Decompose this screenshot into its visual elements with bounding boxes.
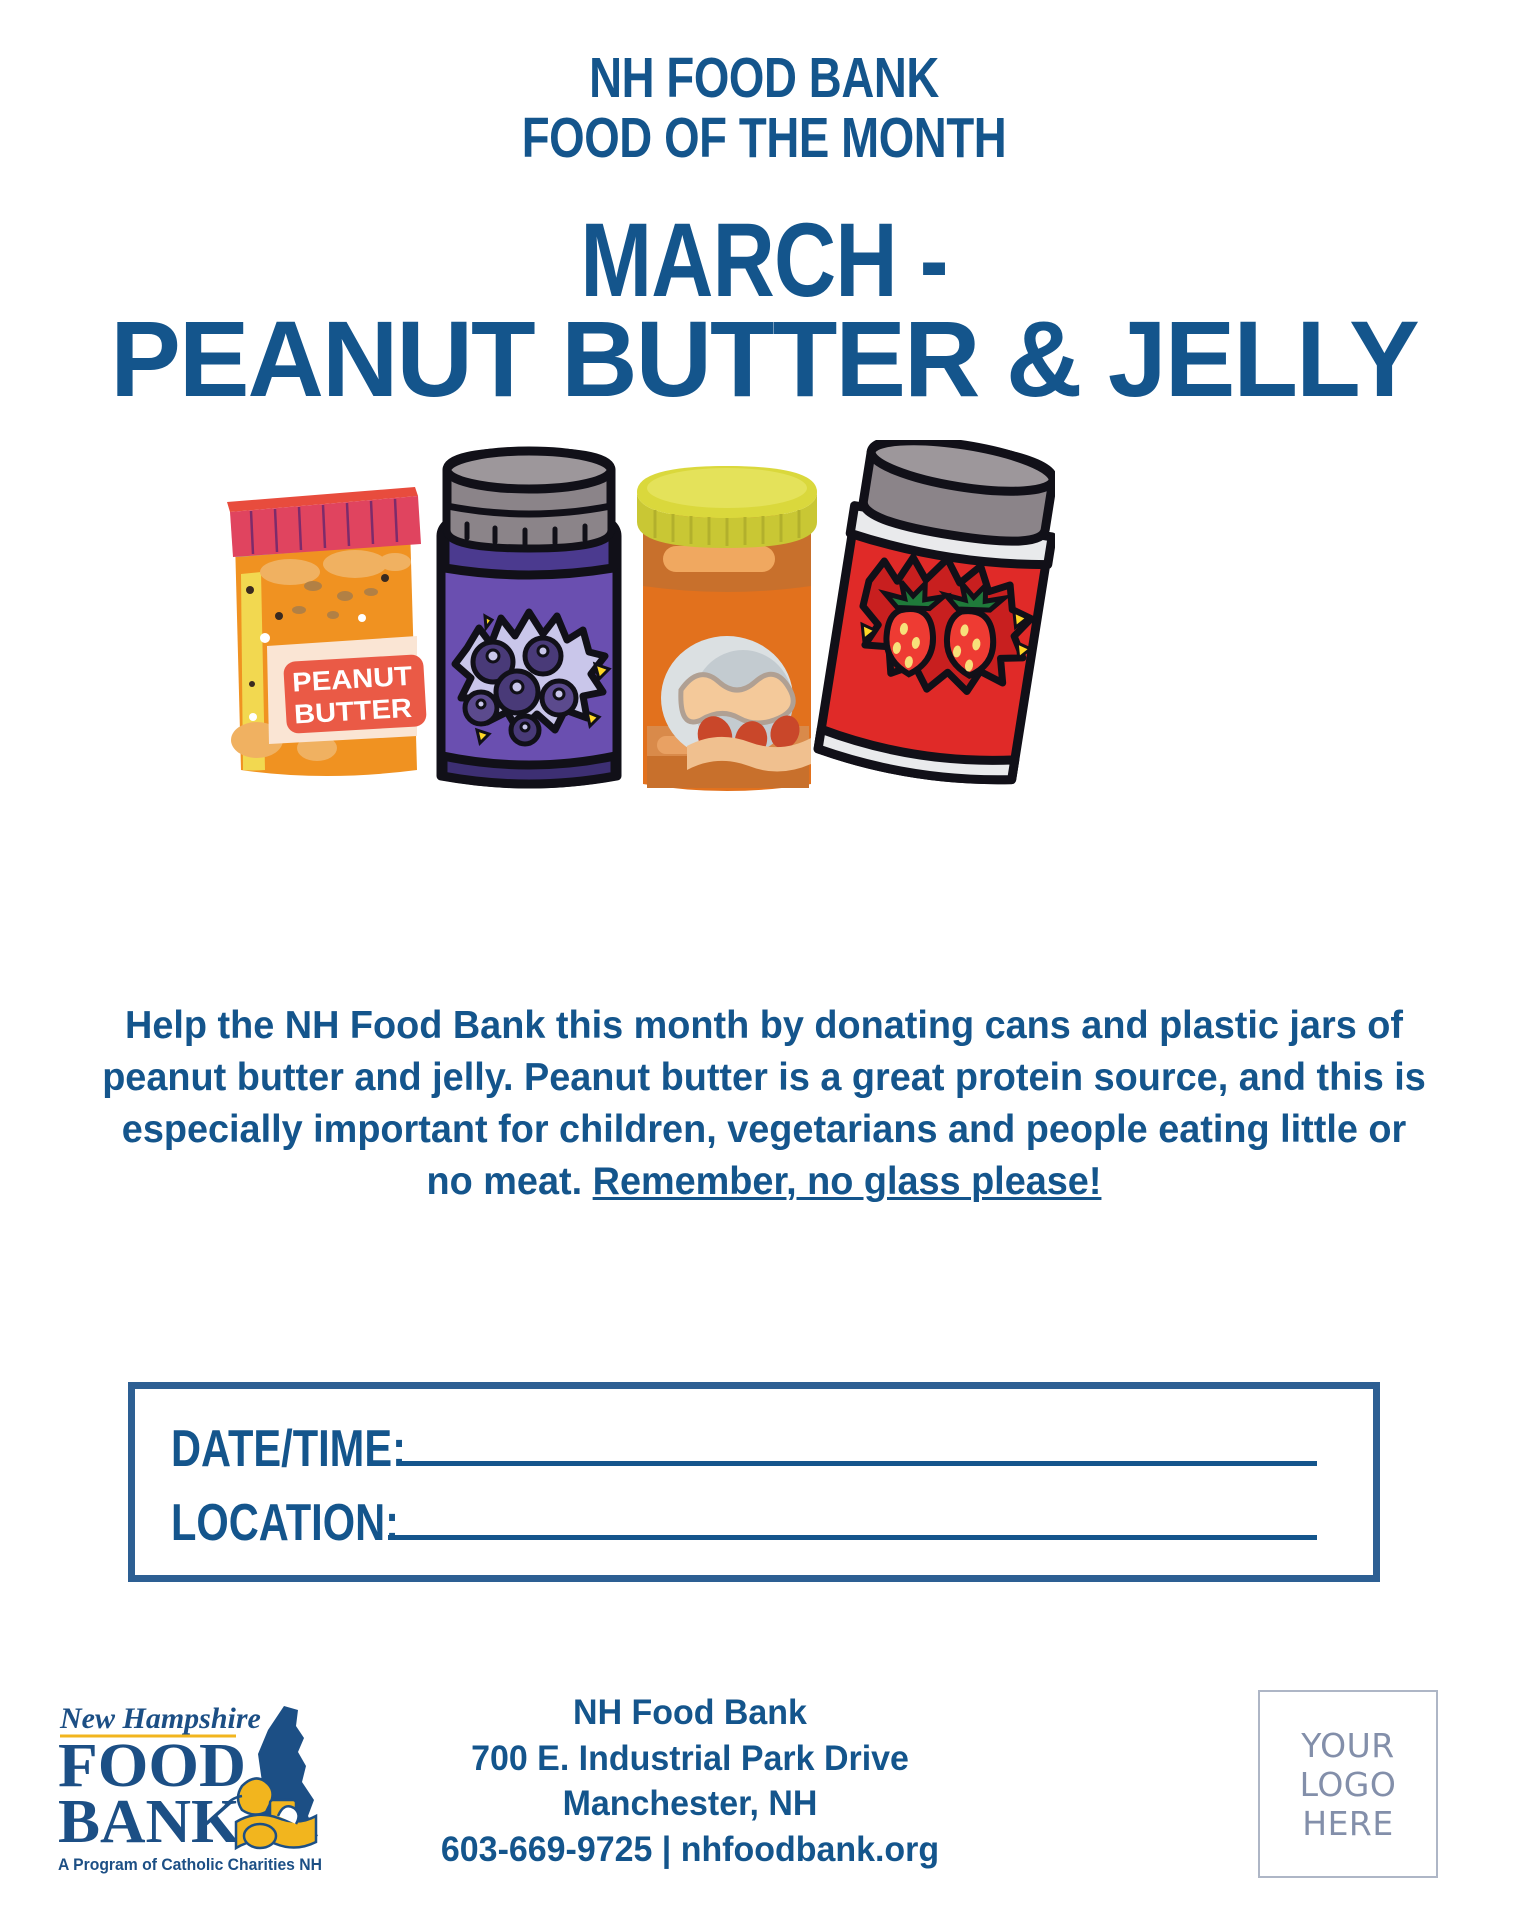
footer-city-state: Manchester, NH bbox=[370, 1781, 1010, 1827]
location-label: LOCATION: bbox=[171, 1493, 399, 1553]
jars-illustration: PEANUT BUTTER bbox=[195, 440, 1055, 815]
body-emphasis: Remember, no glass please! bbox=[593, 1160, 1102, 1203]
peanut-butter-jar-yellow-lid bbox=[637, 466, 817, 791]
date-time-input[interactable] bbox=[397, 1409, 1317, 1466]
logo-word-bank: BANK bbox=[58, 1788, 240, 1856]
logo-placeholder-line-3: HERE bbox=[1302, 1807, 1393, 1840]
footer-org-name: NH Food Bank bbox=[370, 1690, 1010, 1736]
location-input[interactable] bbox=[388, 1483, 1317, 1540]
your-logo-here-placeholder[interactable]: YOUR LOGO HERE bbox=[1258, 1690, 1438, 1878]
logo-tagline: A Program of Catholic Charities NH bbox=[58, 1855, 322, 1874]
footer-phone-website[interactable]: 603-669-9725 | nhfoodbank.org bbox=[370, 1827, 1010, 1873]
nh-food-bank-logo: New Hampshire FOOD BANK A Program of Cat… bbox=[46, 1690, 336, 1880]
date-time-row: DATE/TIME: bbox=[171, 1409, 1351, 1479]
date-time-label: DATE/TIME: bbox=[171, 1419, 406, 1479]
footer-address: NH Food Bank 700 E. Industrial Park Driv… bbox=[370, 1690, 1010, 1872]
strawberry-jam-jar bbox=[815, 440, 1055, 789]
event-details-box: DATE/TIME: LOCATION: bbox=[128, 1382, 1380, 1582]
blueberry-jelly-jar bbox=[441, 451, 617, 784]
body-copy: Help the NH Food Bank this month by dona… bbox=[95, 1000, 1434, 1207]
logo-script-text: New Hampshire bbox=[59, 1702, 261, 1735]
peanut-butter-jar-striped-lid: PEANUT BUTTER bbox=[227, 487, 427, 776]
logo-placeholder-line-2: LOGO bbox=[1300, 1768, 1397, 1801]
footer-street: 700 E. Industrial Park Drive bbox=[370, 1736, 1010, 1782]
kicker-line-2: FOOD OF THE MONTH bbox=[153, 108, 1375, 168]
flyer-kicker: NH FOOD BANK FOOD OF THE MONTH bbox=[153, 48, 1375, 169]
page-title-food: PEANUT BUTTER & JELLY bbox=[15, 305, 1512, 413]
logo-placeholder-line-1: YOUR bbox=[1301, 1729, 1394, 1762]
flyer-page: NH FOOD BANK FOOD OF THE MONTH MARCH - P… bbox=[0, 0, 1528, 1920]
kicker-line-1: NH FOOD BANK bbox=[153, 48, 1375, 108]
location-row: LOCATION: bbox=[171, 1483, 1351, 1553]
